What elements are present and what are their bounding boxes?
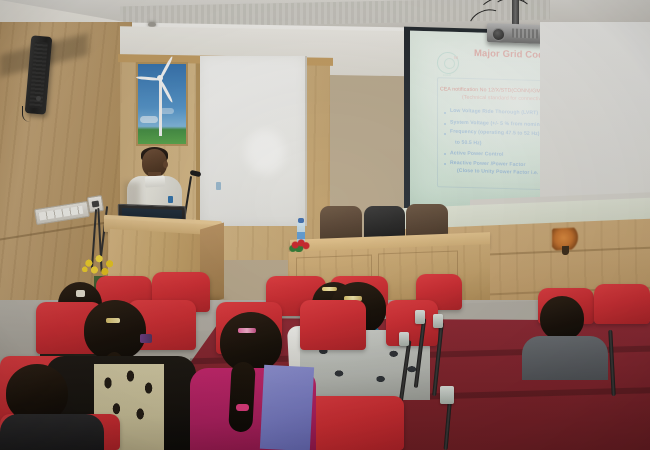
hair-clip <box>322 287 337 291</box>
writing-tablet <box>440 386 454 404</box>
presenter-ear <box>163 161 168 168</box>
seminar-hall-photo: LOGO NI Major Grid Code Requirements CEA… <box>0 0 650 450</box>
slide-bullet-item-wrap: to 50.5 Hz) <box>455 140 482 147</box>
writing-tablet <box>415 310 425 324</box>
audience-member-head <box>84 300 146 360</box>
slide-bullet-marker <box>444 123 446 125</box>
poster-cloud <box>160 108 174 114</box>
bottle-cap <box>298 218 304 223</box>
turbine-hub-icon <box>157 75 163 81</box>
audience-member-dupatta <box>260 365 314 450</box>
red-rose-arrangement <box>288 238 312 252</box>
poster-cloud <box>140 116 158 123</box>
eyeglasses-icon <box>140 334 152 343</box>
slide-logo-mark: NI <box>454 55 458 60</box>
whiteboard-marker <box>216 182 221 190</box>
turbine-mast-icon <box>159 78 162 136</box>
presenter-id-badge <box>168 196 173 203</box>
slide-bullet-marker <box>444 112 446 114</box>
slide-bullet-marker <box>444 153 446 155</box>
slide-bullet-marker <box>444 163 446 165</box>
audience-member-head <box>540 296 584 340</box>
auditorium-seat <box>594 284 650 324</box>
audience-member-torso <box>522 336 608 380</box>
hair-clip <box>76 290 85 297</box>
projector-vent <box>512 29 538 39</box>
audience-member-braid <box>228 361 256 432</box>
whiteboard-glare <box>245 130 285 174</box>
hair-clip <box>106 318 120 323</box>
hair-clip <box>238 328 256 333</box>
auditorium-seat <box>386 300 438 346</box>
slide-bullet-marker <box>444 133 446 135</box>
writing-tablet <box>399 332 409 346</box>
loudspeaker-logo-icon <box>36 96 41 101</box>
auditorium-seat <box>300 300 366 350</box>
loudspeaker-cable <box>22 106 31 122</box>
writing-tablet <box>433 314 443 328</box>
right-wall <box>540 22 650 202</box>
flower-vase <box>562 246 569 255</box>
audience-member-torso <box>0 414 104 450</box>
hair-tie <box>236 404 249 411</box>
presenter-shirt-collar <box>145 175 166 187</box>
audience-member-head <box>220 312 282 372</box>
projector-lens-icon <box>492 28 505 41</box>
